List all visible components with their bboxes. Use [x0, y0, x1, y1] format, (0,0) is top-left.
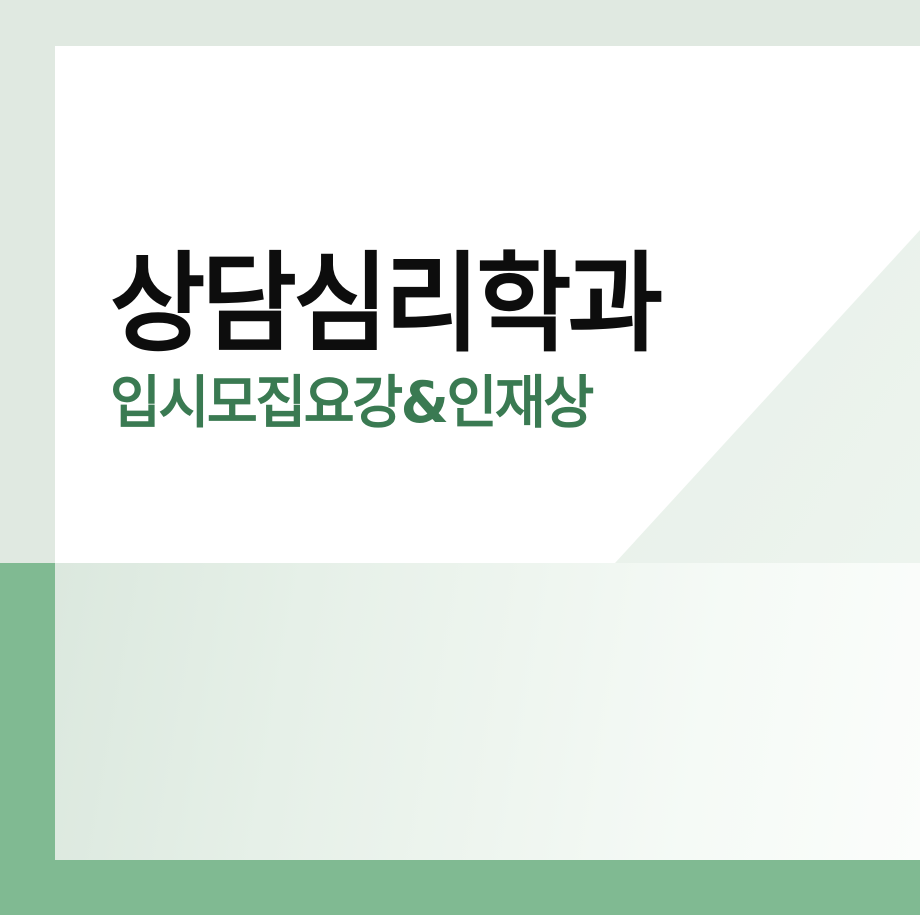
card-lower-wash	[55, 563, 920, 860]
page-subtitle: 입시모집요강&인재상	[110, 375, 789, 432]
page-title: 상담심리학과	[110, 251, 782, 359]
poster-canvas: 상담심리학과 입시모집요강&인재상	[0, 0, 920, 915]
content-card: 상담심리학과 입시모집요강&인재상	[55, 46, 920, 860]
title-block: 상담심리학과 입시모집요강&인재상	[110, 251, 810, 432]
